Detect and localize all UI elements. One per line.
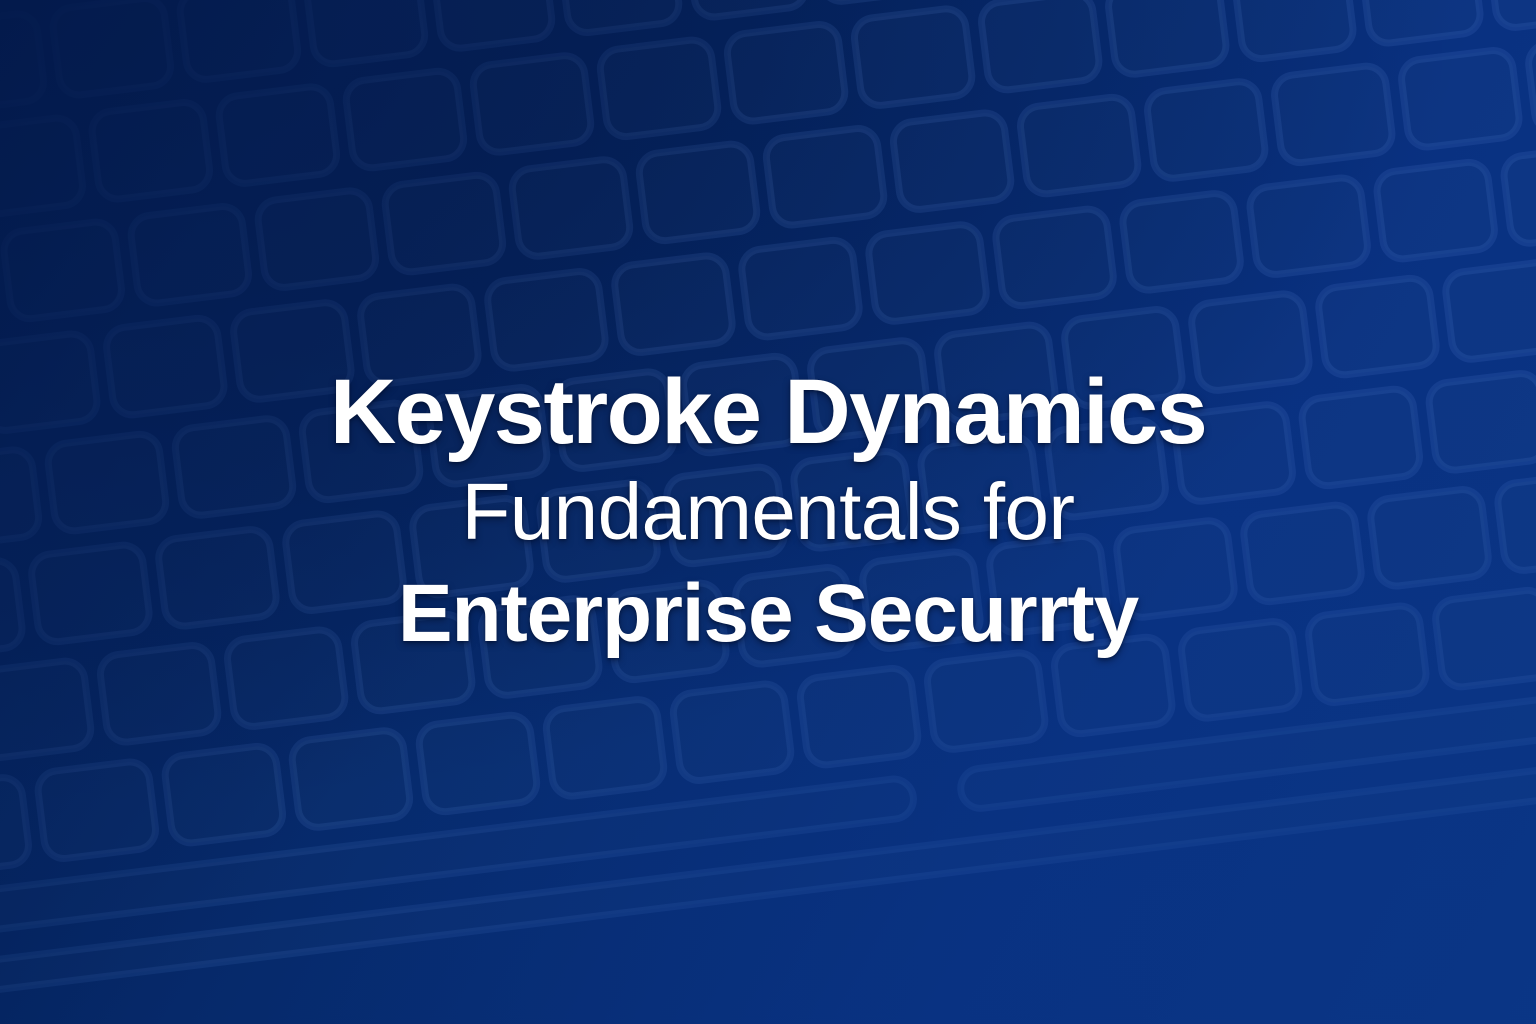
title-block: Keystroke Dynamics Fundamentals for Ente…	[0, 366, 1536, 664]
title-line-primary: Keystroke Dynamics	[60, 366, 1476, 460]
title-line-tertiary: Enterprise Securrty	[60, 564, 1476, 664]
title-card: Keystroke Dynamics Fundamentals for Ente…	[0, 0, 1536, 1024]
title-line-secondary: Fundamentals for	[60, 460, 1476, 564]
